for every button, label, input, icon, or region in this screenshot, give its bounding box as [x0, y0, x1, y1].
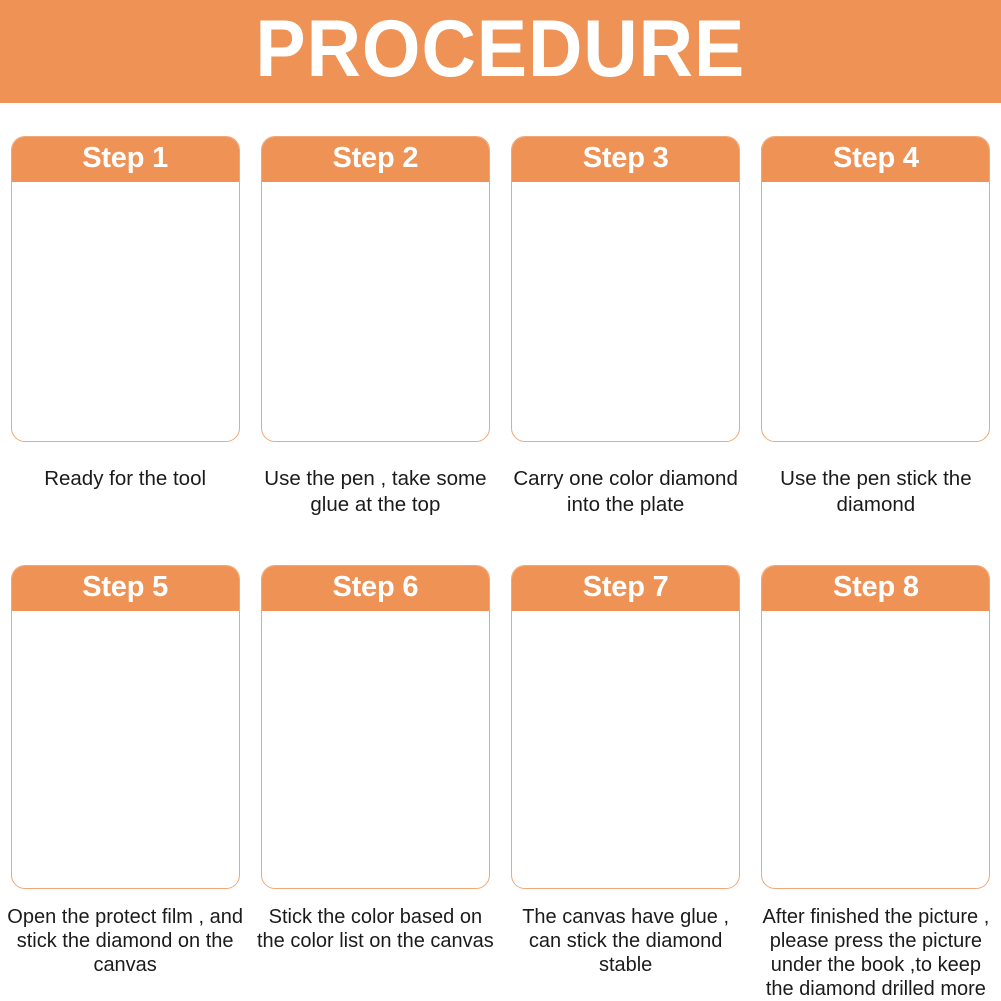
step-caption-5: Open the protect film , and stick the di… — [6, 905, 244, 977]
step-caption-2: Use the pen , take some glue at the top — [256, 466, 494, 518]
step-card-8: Step 8 — [761, 565, 990, 889]
step-caption-3: Carry one color diamond into the plate — [507, 466, 745, 518]
step-card-6: Step 6 Serial Symbol — [261, 565, 490, 889]
step-header-4: Step 4 — [762, 137, 989, 182]
procedure-infographic: PROCEDURE Step 1 — [0, 0, 1001, 1001]
step-card-1: Step 1 — [11, 136, 240, 442]
step-card-5: Step 5 — [11, 565, 240, 889]
page-banner: PROCEDURE — [0, 0, 1001, 103]
step-header-1: Step 1 — [12, 137, 239, 182]
step-cell-1: Step 1 Ready for the tool — [0, 136, 250, 518]
step-header-label-7: Step 7 — [583, 573, 669, 604]
step-cell-6: Step 6 Serial Symbol — [250, 565, 500, 1001]
step-header-3: Step 3 — [512, 137, 739, 182]
step-header-label-8: Step 8 — [833, 573, 919, 604]
step-cell-3: Step 3 Carry one color diamond into the … — [501, 136, 751, 518]
step-header-2: Step 2 — [262, 137, 489, 182]
step-header-label-4: Step 4 — [833, 144, 919, 175]
step-caption-6: Stick the color based on the color list … — [256, 905, 494, 953]
step-card-7: Step 7 — [511, 565, 740, 889]
step-card-2: Step 2 — [261, 136, 490, 442]
step-cell-7: Step 7 — [501, 565, 751, 1001]
step-header-label-5: Step 5 — [82, 573, 168, 604]
page-title: PROCEDURE — [256, 9, 746, 94]
step-cell-4: Step 4 U — [751, 136, 1001, 518]
step-header-label-1: Step 1 — [82, 144, 168, 175]
step-header-8: Step 8 — [762, 566, 989, 611]
step-cell-8: Step 8 — [751, 565, 1001, 1001]
step-caption-4: Use the pen stick the diamond — [757, 466, 995, 518]
step-caption-8: After finished the picture , please pres… — [757, 905, 995, 1001]
step-card-4: Step 4 — [761, 136, 990, 442]
step-header-6: Step 6 — [262, 566, 489, 611]
steps-row-bottom: Step 5 — [0, 565, 1001, 1001]
step-header-label-3: Step 3 — [583, 144, 669, 175]
step-caption-7: The canvas have glue , can stick the dia… — [507, 905, 745, 977]
step-cell-2: Step 2 — [250, 136, 500, 518]
step-header-label-2: Step 2 — [332, 144, 418, 175]
step-card-3: Step 3 — [511, 136, 740, 442]
step-header-5: Step 5 — [12, 566, 239, 611]
steps-row-top: Step 1 Ready for the tool — [0, 136, 1001, 518]
step-header-7: Step 7 — [512, 566, 739, 611]
step-cell-5: Step 5 — [0, 565, 250, 1001]
step-caption-1: Ready for the tool — [6, 466, 244, 492]
step-header-label-6: Step 6 — [332, 573, 418, 604]
